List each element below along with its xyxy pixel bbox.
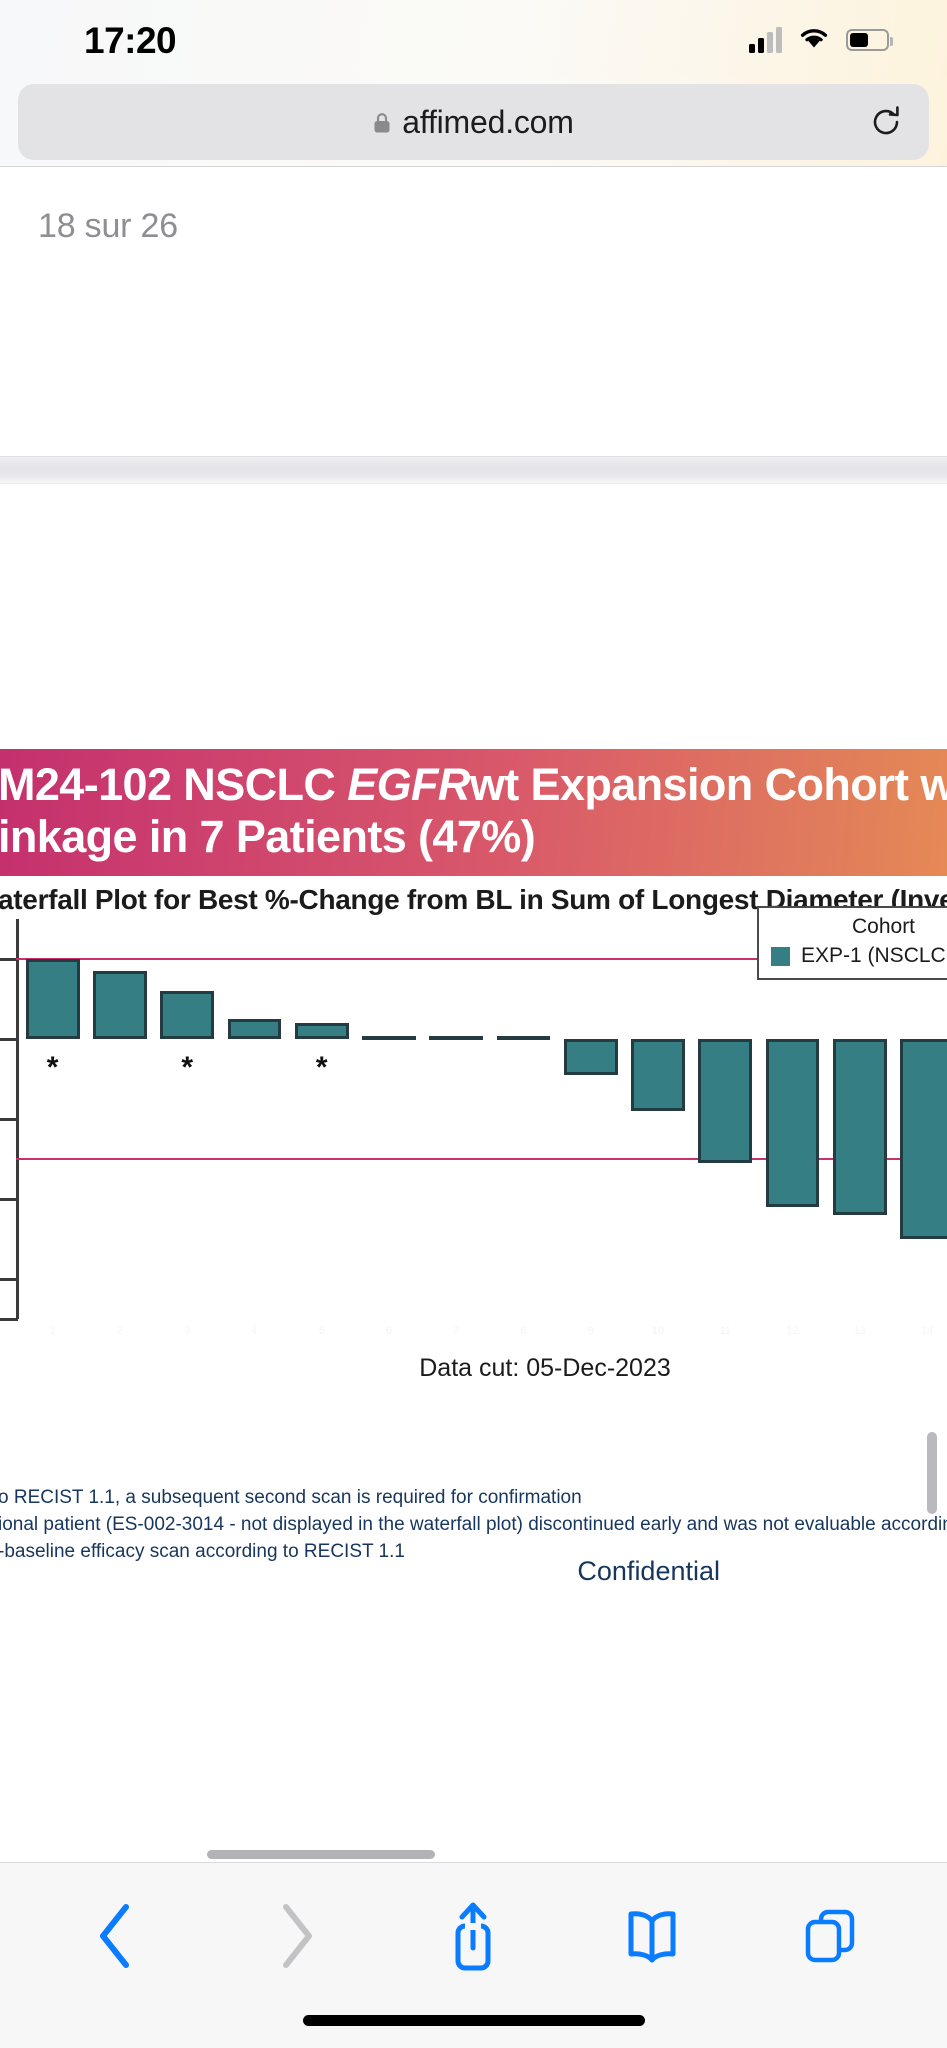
slide-content: M24-102 NSCLC EGFRwt Expansion Cohort wi… <box>0 484 947 1850</box>
status-indicators <box>749 24 889 55</box>
safari-url-bar-container: affimed.com <box>0 78 947 166</box>
footnote-1: o RECIST 1.1, a subsequent second scan i… <box>0 1484 947 1511</box>
x-axis-tick-label: 7 <box>423 1325 490 1337</box>
bar-7 <box>429 1036 483 1040</box>
title-gene-name: EGFR <box>347 759 470 810</box>
horizontal-scrollbar[interactable] <box>207 1850 435 1859</box>
pdf-page[interactable]: M24-102 NSCLC EGFRwt Expansion Cohort wi… <box>0 484 947 1850</box>
legend-title: Cohort <box>771 915 947 939</box>
y-axis-tick <box>0 1038 18 1041</box>
x-axis-tick-label: 4 <box>221 1325 288 1337</box>
legend-color-swatch <box>771 947 790 966</box>
footnotes: o RECIST 1.1, a subsequent second scan i… <box>0 1484 947 1565</box>
bar-1 <box>26 959 80 1039</box>
pdf-viewer[interactable]: 18 sur 26 M24-102 NSCLC EGFRwt Expansion… <box>0 167 947 1850</box>
bar-12 <box>766 1039 820 1207</box>
response-asterisk: * <box>154 1053 221 1083</box>
chart-legend: Cohort EXP-1 (NSCLC, EGFR-WT) <box>757 906 947 980</box>
status-time: 17:20 <box>84 20 176 62</box>
page-indicator: 18 sur 26 <box>38 207 178 246</box>
bar-3 <box>160 991 214 1039</box>
bar-13 <box>833 1039 887 1215</box>
x-axis-tick-label: 14 <box>893 1325 947 1337</box>
cellular-signal-icon <box>749 27 782 53</box>
slide-title-banner: M24-102 NSCLC EGFRwt Expansion Cohort wi… <box>0 749 947 876</box>
y-axis-tick <box>0 1118 18 1121</box>
url-text: affimed.com <box>402 104 574 141</box>
slide-title-line2: inkage in 7 Patients (47%) <box>0 811 947 863</box>
response-asterisk: * <box>288 1053 355 1083</box>
url-bar[interactable]: affimed.com <box>18 84 929 160</box>
x-axis-tick-label: 5 <box>288 1325 355 1337</box>
title-text-post: wt Expansion Cohort wi <box>470 759 947 810</box>
y-axis-tick <box>0 1318 18 1321</box>
bar-9 <box>564 1039 618 1075</box>
data-cut-label: Data cut: 05-Dec-2023 <box>0 1354 947 1383</box>
legend-entry: EXP-1 (NSCLC, EGFR-WT) <box>771 944 947 968</box>
response-asterisk: * <box>19 1053 86 1083</box>
battery-icon <box>846 29 889 51</box>
bar-10 <box>631 1039 685 1111</box>
tabs-button[interactable] <box>782 1888 878 1984</box>
bar-2 <box>93 971 147 1039</box>
x-axis-tick-label: 6 <box>355 1325 422 1337</box>
waterfall-plot: *12*34*56789101112131415 Cohort EXP-1 (N… <box>0 919 947 1319</box>
ios-status-bar: 17:20 <box>0 0 947 78</box>
lock-icon <box>373 112 391 134</box>
y-axis-tick <box>0 1278 18 1281</box>
home-indicator <box>303 2015 645 2026</box>
safari-bottom-toolbar <box>0 1862 947 2048</box>
x-axis-tick-label: 12 <box>759 1325 826 1337</box>
bar-14 <box>900 1039 947 1239</box>
y-axis-tick <box>0 1198 18 1201</box>
footnote-2: ional patient (ES-002-3014 - not display… <box>0 1511 947 1538</box>
x-axis-tick-label: 11 <box>692 1325 759 1337</box>
wifi-icon <box>797 24 831 55</box>
bar-6 <box>362 1036 416 1040</box>
title-text-pre: M24-102 NSCLC <box>0 759 347 810</box>
toolbar-buttons <box>0 1877 947 1995</box>
slide-title-line1: M24-102 NSCLC EGFRwt Expansion Cohort wi <box>0 759 947 811</box>
bar-4 <box>228 1019 282 1039</box>
legend-entry-label: EXP-1 (NSCLC, EGFR-WT) <box>801 944 947 968</box>
bar-5 <box>295 1023 349 1039</box>
pdf-page-separator <box>0 456 947 484</box>
x-axis-tick-label: 13 <box>826 1325 893 1337</box>
back-button[interactable] <box>69 1888 165 1984</box>
vertical-scrollbar[interactable] <box>927 1432 937 1514</box>
bar-11 <box>698 1039 752 1163</box>
x-axis-tick-label: 8 <box>490 1325 557 1337</box>
x-axis-tick-label: 10 <box>624 1325 691 1337</box>
bar-8 <box>497 1036 551 1040</box>
x-axis-tick-label: 9 <box>557 1325 624 1337</box>
x-axis-tick-label: 3 <box>154 1325 221 1337</box>
x-axis-tick-label: 2 <box>86 1325 153 1337</box>
confidential-label: Confidential <box>0 1556 947 1587</box>
reload-icon[interactable] <box>869 105 903 139</box>
bookmarks-button[interactable] <box>604 1888 700 1984</box>
forward-button[interactable] <box>247 1888 343 1984</box>
share-button[interactable] <box>425 1888 521 1984</box>
x-axis-tick-label: 1 <box>19 1325 86 1337</box>
